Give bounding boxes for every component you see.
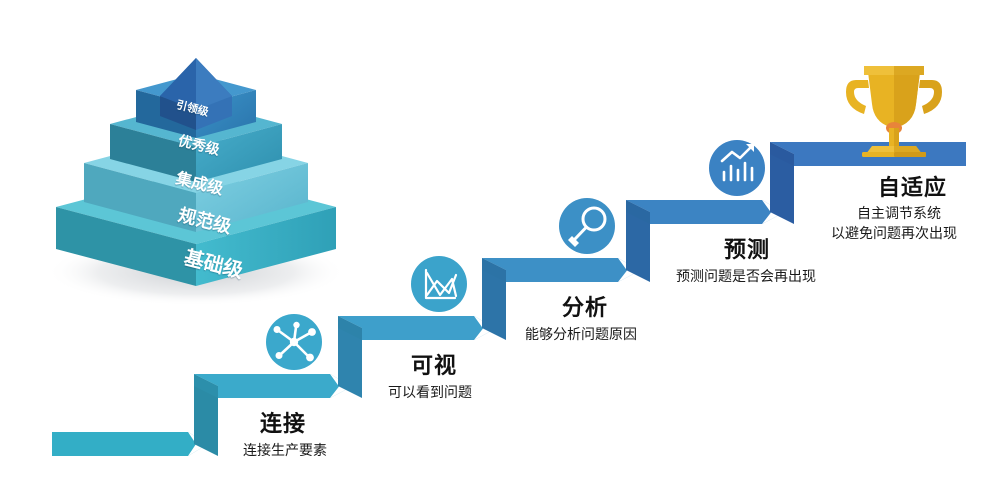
step-desc-connect: 连接生产要素 [243, 440, 327, 460]
step-desc-adaptive: 自主调节系统 [857, 203, 941, 223]
bar-chart-trend-icon [709, 140, 765, 196]
step-title-visualize: 可视 [411, 348, 457, 380]
step-desc2-adaptive: 以避免问题再次出现 [831, 223, 957, 243]
step-title-predict: 预测 [724, 232, 770, 264]
step-title-adaptive: 自适应 [878, 170, 947, 202]
pyramid-level-引领级 [160, 58, 232, 130]
infographic-svg [0, 0, 1000, 499]
step-title-connect: 连接 [260, 406, 306, 438]
stair-step-base[interactable] [52, 431, 210, 456]
step-title-analyze: 分析 [562, 290, 608, 322]
magnifier-icon [559, 198, 615, 254]
step-desc-analyze: 能够分析问题原因 [525, 324, 637, 344]
step-desc-visualize: 可以看到问题 [388, 382, 472, 402]
network-nodes-icon [266, 314, 322, 370]
step-desc-predict: 预测问题是否会再出现 [676, 266, 816, 286]
line-chart-icon [411, 256, 467, 312]
infographic-canvas: 引领级 优秀级 集成级 规范级 基础级 连接 连接生产要素 可视 可以看到问题 … [0, 0, 1000, 499]
